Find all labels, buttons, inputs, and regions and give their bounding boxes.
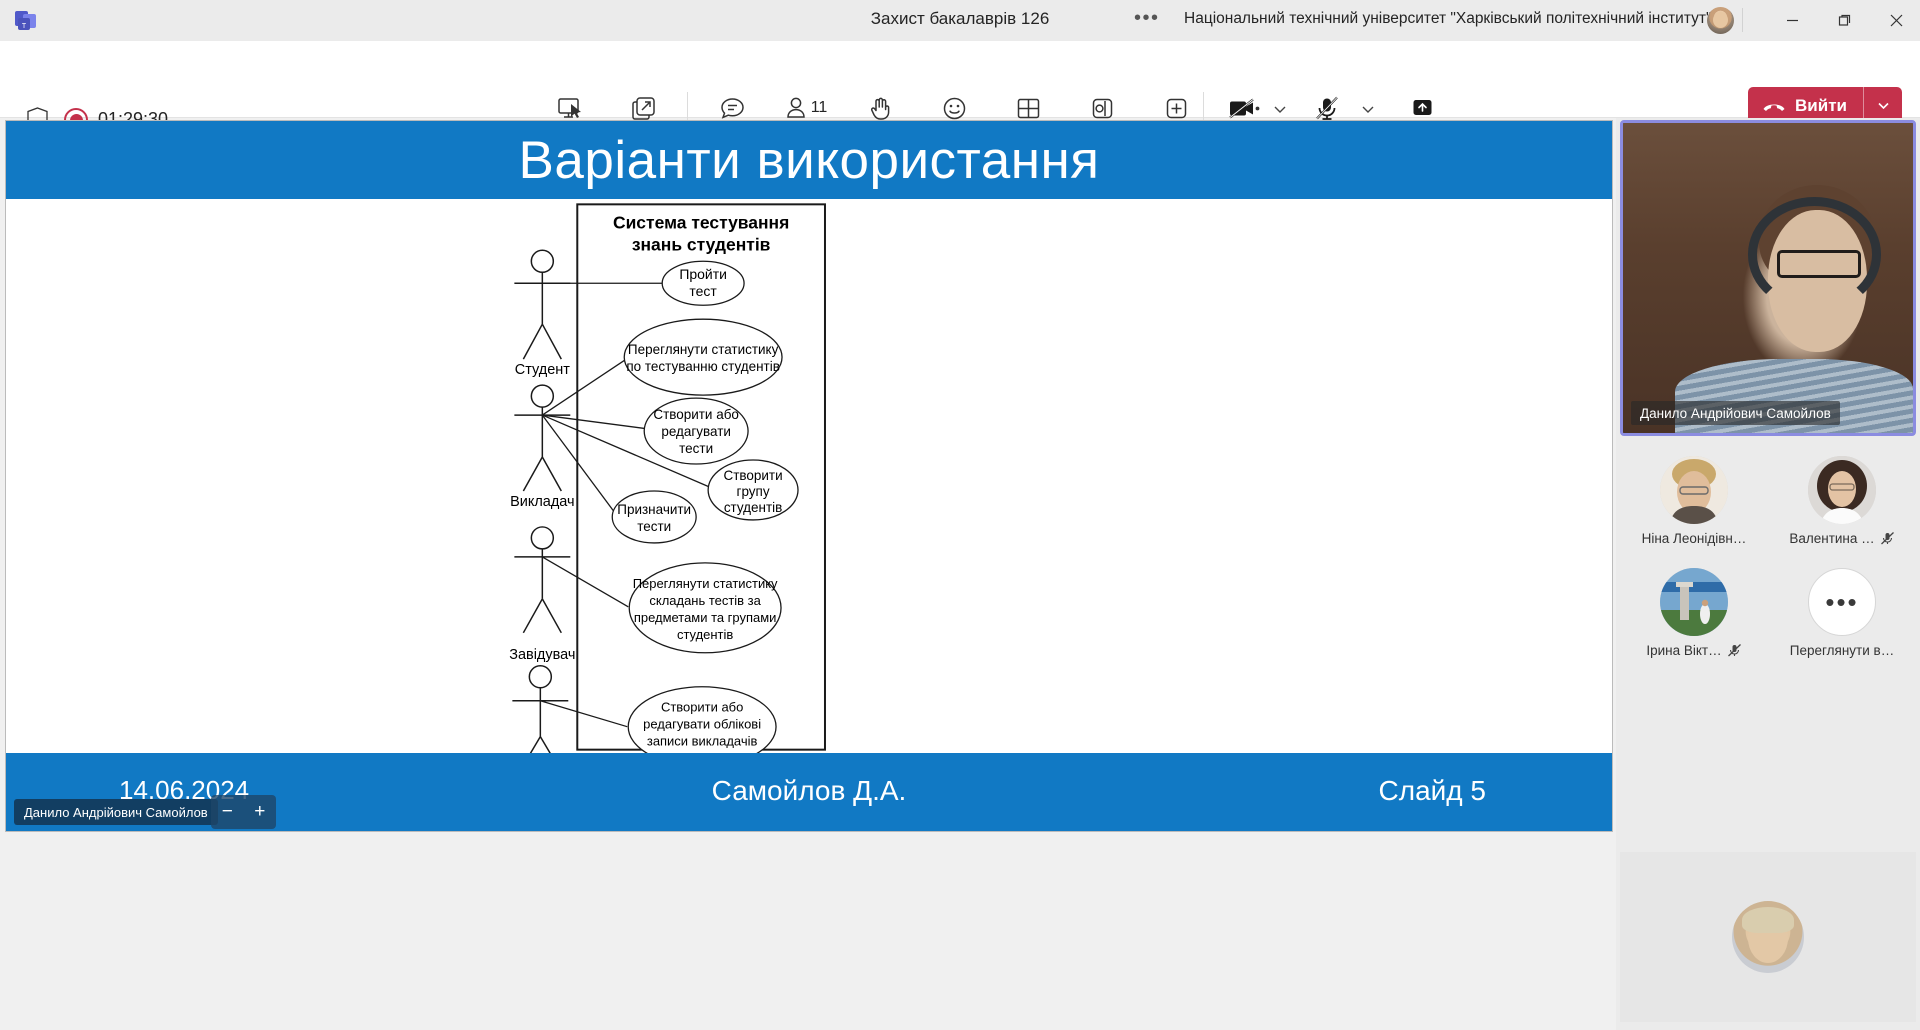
avatar <box>1660 568 1728 636</box>
participant-name: Переглянути в… <box>1790 643 1894 658</box>
avatar <box>1660 456 1728 524</box>
uc-line: тести <box>679 441 713 456</box>
window-bottom-strip <box>0 1024 1616 1030</box>
avatar <box>1732 901 1804 973</box>
slide-header: Варіанти використання <box>6 121 1612 199</box>
uc-line: Переглянути статистику <box>633 576 778 591</box>
participant-label-row: Ніна Леонідівн… <box>1642 531 1747 546</box>
svg-text:T: T <box>22 23 27 30</box>
camera-off-icon <box>1227 93 1257 123</box>
use-case-uc5: Призначити тести <box>612 491 696 543</box>
uc-line: записи викладачів <box>647 734 758 749</box>
people-icon: 11 <box>785 93 828 123</box>
participant-name: Валентина … <box>1789 531 1874 546</box>
zoom-out-button[interactable]: − <box>222 801 233 823</box>
breakout-rooms-icon <box>1089 93 1116 123</box>
system-title-line1: Система тестуваннязнань студентів <box>613 212 789 254</box>
uc-line: редагувати <box>661 424 731 439</box>
uc-line: Переглянути статистику <box>628 342 779 357</box>
participant-label-row: Ірина Вікт… <box>1646 643 1741 658</box>
participant-row: Ніна Леонідівн… Валентина … <box>1620 448 1916 560</box>
microphone-off-icon <box>1313 93 1341 123</box>
use-case-uc1: Пройти тест <box>662 261 744 305</box>
zoom-in-button[interactable]: + <box>254 801 265 823</box>
more-participants-icon: ••• <box>1808 568 1876 636</box>
participant-label-row: Переглянути в… <box>1790 643 1894 658</box>
minimize-button[interactable] <box>1766 0 1818 41</box>
title-bar: T Захист бакалаврів 126 ••• Національний… <box>0 0 1920 41</box>
uc-line: Призначити <box>617 502 691 517</box>
uc-line: студентів <box>724 500 782 515</box>
hangup-phone-icon <box>1762 98 1786 114</box>
uc-line: студентів <box>677 627 733 642</box>
uc-line: Створити або <box>661 700 743 715</box>
actor-teacher <box>514 385 570 491</box>
glasses-icon <box>1777 250 1861 278</box>
use-case-uc3: Створити або редагувати тести <box>644 398 748 464</box>
participant-row: Ірина Вікт… ••• Перег <box>1620 560 1916 672</box>
organization-name: Національний технічний університет "Харк… <box>1184 10 1711 28</box>
avatar-hair <box>1742 907 1794 933</box>
more-dots-label: ••• <box>1825 596 1858 608</box>
microphone-muted-icon <box>1880 531 1895 546</box>
pop-out-icon <box>630 93 657 123</box>
share-up-arrow-icon <box>1409 93 1436 123</box>
plus-square-icon <box>1163 93 1190 123</box>
actor-student <box>514 250 570 359</box>
participants-sidebar: Данило Андрійович Самойлов Ніна Леонідів… <box>1616 118 1920 1030</box>
use-case-uc4: Створити групу студентів <box>708 460 798 520</box>
meeting-toolbar: 01:29:30 Почати <box>0 41 1920 118</box>
chat-bubble-icon <box>719 93 746 123</box>
present-screen-icon <box>556 93 583 123</box>
uc-line: тест <box>689 283 717 299</box>
microphone-muted-icon <box>1727 643 1742 658</box>
grid-view-icon <box>1015 93 1042 123</box>
uc-line: Створити або <box>653 407 739 422</box>
participant-tile-1[interactable]: Валентина … <box>1768 448 1916 560</box>
use-case-uc7: Створити або редагувати облікові записи … <box>628 687 776 755</box>
uc-line: складань тестів за <box>649 593 761 608</box>
microphone-chevron-down-icon[interactable] <box>1361 102 1375 116</box>
avatar[interactable] <box>1707 7 1734 34</box>
actor-head <box>514 527 570 633</box>
spotlight-name-label: Данило Андрійович Самойлов <box>1631 401 1840 425</box>
participant-tiles: Ніна Леонідівн… Валентина … <box>1620 448 1916 672</box>
use-case-uc2: Переглянути статистику по тестуванню сту… <box>624 319 782 395</box>
maximize-button[interactable] <box>1818 0 1870 41</box>
uc-line: предметами та групами <box>634 610 776 625</box>
slide-title: Варіанти використання <box>519 130 1100 191</box>
spotlight-video-image <box>1623 123 1913 433</box>
shared-content-stage[interactable]: Варіанти використання Система тестування… <box>5 120 1613 832</box>
close-button[interactable] <box>1870 0 1920 41</box>
emoji-smile-icon <box>941 93 968 123</box>
participant-tile-0[interactable]: Ніна Леонідівн… <box>1620 448 1768 560</box>
raise-hand-icon <box>867 93 894 123</box>
uc-line: Створити <box>724 468 783 483</box>
use-case-diagram: Система тестуваннязнань студентів Студен… <box>6 199 1612 755</box>
presenter-name-tag: Данило Андрійович Самойлов <box>14 799 218 825</box>
participant-name: Ірина Вікт… <box>1646 643 1721 658</box>
leave-label: Вийти <box>1795 96 1847 116</box>
actor-admin <box>512 666 568 755</box>
zoom-controls[interactable]: − + <box>211 795 276 829</box>
uc-line: редагувати облікові <box>643 717 761 732</box>
overflow-participant-card[interactable] <box>1620 852 1916 1022</box>
use-case-uc6: Переглянути статистику складань тестів з… <box>629 563 781 653</box>
actor-label-student: Студент <box>515 362 570 378</box>
slide-body: Система тестуваннязнань студентів Студен… <box>6 199 1612 755</box>
actor-label-teacher: Викладач <box>510 494 574 510</box>
titlebar-overflow-button[interactable]: ••• <box>1134 7 1160 29</box>
participant-label-row: Валентина … <box>1789 531 1894 546</box>
titlebar-divider <box>1742 8 1743 32</box>
participant-tile-2[interactable]: Ірина Вікт… <box>1620 560 1768 672</box>
camera-chevron-down-icon[interactable] <box>1273 102 1287 116</box>
teams-logo-icon: T <box>13 8 38 33</box>
uc-line: Пройти <box>679 266 727 282</box>
uc-line: по тестуванню студентів <box>626 359 779 374</box>
spotlight-video-tile[interactable]: Данило Андрійович Самойлов <box>1620 120 1916 436</box>
avatar <box>1808 456 1876 524</box>
actor-label-head: Завідувач <box>509 647 575 663</box>
uc-line: групу <box>737 484 770 499</box>
participant-name: Ніна Леонідівн… <box>1642 531 1747 546</box>
people-count-badge: 11 <box>811 99 828 117</box>
participant-tile-more[interactable]: ••• Переглянути в… <box>1768 560 1916 672</box>
slide-number: Слайд 5 <box>1379 775 1486 807</box>
uc-line: тести <box>637 519 671 534</box>
